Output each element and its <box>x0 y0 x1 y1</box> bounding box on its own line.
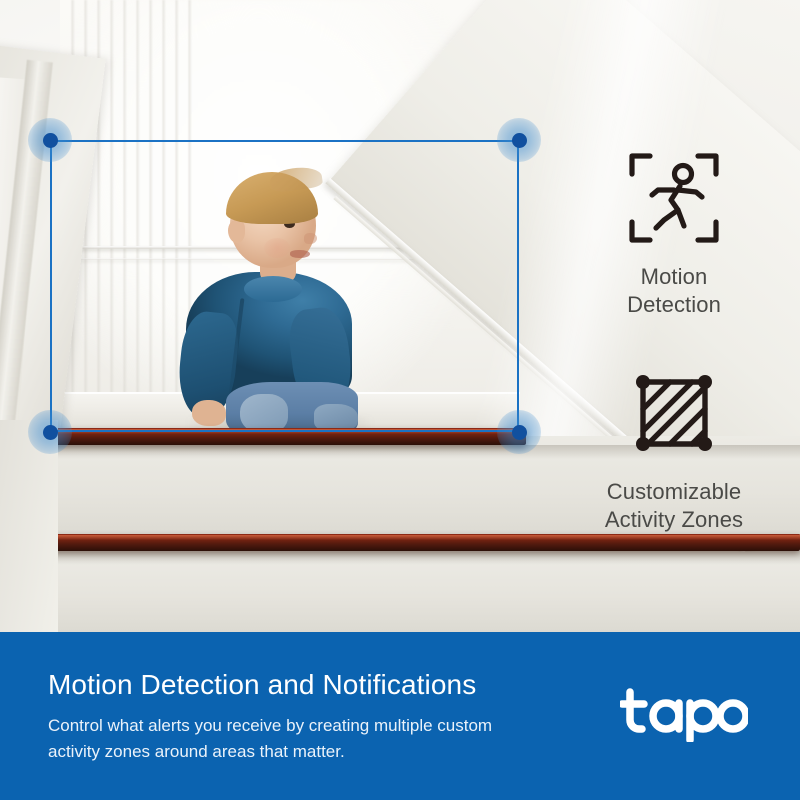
zone-handle-top-right[interactable] <box>497 118 541 162</box>
detection-zone-rectangle[interactable] <box>50 140 519 432</box>
feature-motion-detection: Motion Detection <box>626 150 722 319</box>
feature-activity-zones-label: Customizable Activity Zones <box>605 478 743 534</box>
banner-subtitle: Control what alerts you receive by creat… <box>48 713 578 764</box>
feature-activity-zones: Customizable Activity Zones <box>605 365 743 534</box>
tapo-feature-poster: Motion Detection <box>0 0 800 800</box>
zone-handle-bottom-left[interactable] <box>28 410 72 454</box>
activity-zones-icon <box>626 365 722 466</box>
feature-motion-detection-label: Motion Detection <box>627 263 721 319</box>
zone-handle-top-left[interactable] <box>28 118 72 162</box>
zone-handle-bottom-right[interactable] <box>497 410 541 454</box>
camera-scene-photo: Motion Detection <box>0 0 800 632</box>
stair-nosing-lower <box>10 534 800 551</box>
stair-nosing-gloss <box>10 535 800 540</box>
banner-title: Motion Detection and Notifications <box>48 668 620 702</box>
bottom-banner: Motion Detection and Notifications Contr… <box>0 632 800 800</box>
stair-riser-shadow-lower <box>0 551 800 565</box>
motion-detection-icon <box>626 150 722 251</box>
banner-text-block: Motion Detection and Notifications Contr… <box>0 668 620 765</box>
feature-list: Motion Detection <box>548 150 800 535</box>
tapo-logo <box>620 686 800 747</box>
